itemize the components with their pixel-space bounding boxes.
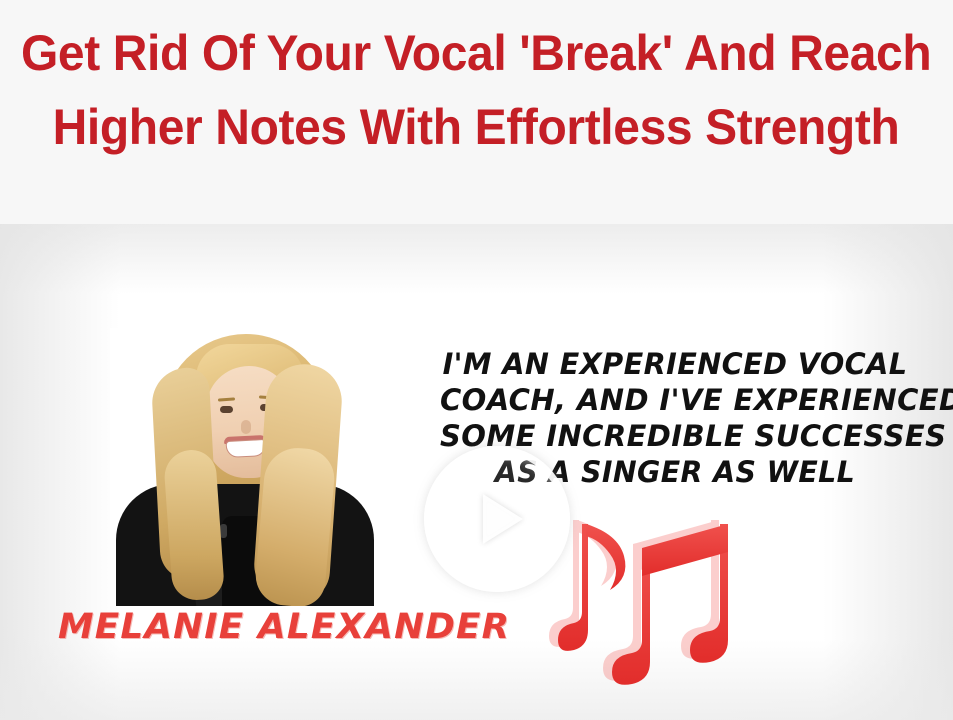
- lapel-microphone-icon: [220, 524, 227, 538]
- quote-line-2: COACH, AND I'VE EXPERIENCED: [440, 382, 910, 418]
- presenter-name-caption: MELANIE ALEXANDER: [58, 607, 486, 647]
- hair-front-right: [253, 445, 337, 606]
- headline-line-2: Higher Notes With Effortless Strength: [53, 90, 900, 164]
- headline-line-1: Get Rid Of Your Vocal 'Break' And Reach: [21, 16, 931, 90]
- landing-page: Get Rid Of Your Vocal 'Break' And Reach …: [0, 0, 953, 720]
- play-triangle-icon: [483, 494, 523, 544]
- vignette-top: [0, 224, 953, 294]
- quote-line-1: I'M AN EXPERIENCED VOCAL: [442, 346, 907, 382]
- music-notes-icon: [548, 492, 763, 692]
- presenter-portrait: [110, 328, 380, 606]
- video-player[interactable]: MELANIE ALEXANDER I'M AN EXPERIENCED VOC…: [0, 224, 953, 720]
- portrait-photo: [110, 328, 380, 606]
- headline-band: Get Rid Of Your Vocal 'Break' And Reach …: [0, 0, 953, 224]
- nose: [241, 420, 251, 434]
- hair-front-left: [163, 448, 225, 601]
- vignette-bottom: [0, 640, 953, 720]
- play-button[interactable]: [424, 446, 570, 592]
- eye-left: [220, 406, 233, 413]
